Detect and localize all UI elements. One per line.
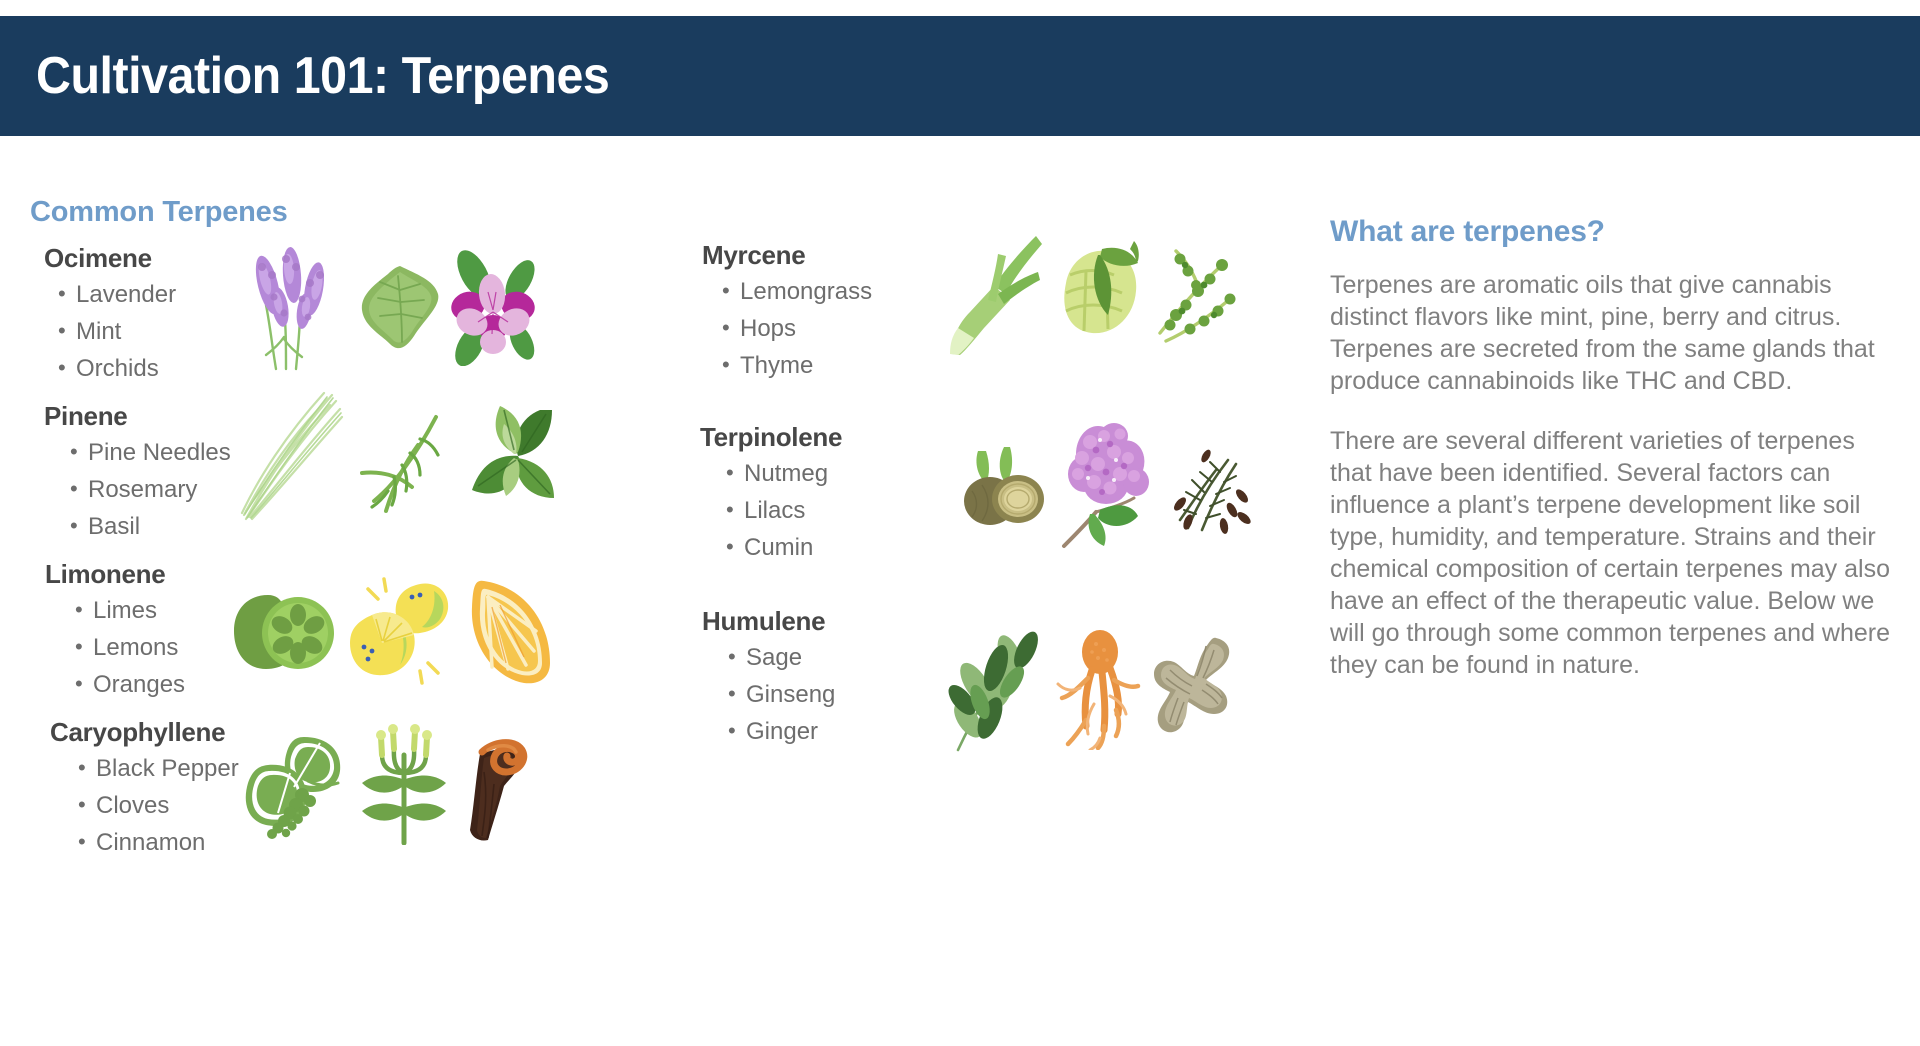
list-item: Pine Needles xyxy=(70,434,690,471)
terpene-group-limonene: Limonene Limes Lemons Oranges xyxy=(30,559,690,703)
list-item: Thyme xyxy=(722,347,1320,384)
list-item: Lilacs xyxy=(726,492,1320,529)
list-item: Hops xyxy=(722,310,1320,347)
terpene-group-myrcene: Myrcene Lemongrass Hops Thyme xyxy=(700,240,1320,384)
terpene-name: Caryophyllene xyxy=(50,717,690,748)
list-item: Nutmeg xyxy=(726,455,1320,492)
list-item: Cumin xyxy=(726,529,1320,566)
list-item: Oranges xyxy=(75,666,690,703)
body-paragraph: Terpenes are aromatic oils that give can… xyxy=(1330,269,1900,397)
terpene-source-list: Sage Ginseng Ginger xyxy=(700,639,1320,750)
middle-column: Myrcene Lemongrass Hops Thyme xyxy=(700,240,1320,764)
terpene-name: Humulene xyxy=(702,606,1320,637)
list-item: Lemongrass xyxy=(722,273,1320,310)
section-heading-what-are-terpenes: What are terpenes? xyxy=(1330,215,1900,249)
body-paragraph: There are several different varieties of… xyxy=(1330,425,1900,681)
list-item: Limes xyxy=(75,592,690,629)
page-title: Cultivation 101: Terpenes xyxy=(36,46,609,106)
list-item: Lavender xyxy=(58,276,690,313)
terpene-name: Terpinolene xyxy=(700,422,1320,453)
terpene-name: Ocimene xyxy=(44,243,690,274)
list-item: Sage xyxy=(728,639,1320,676)
list-item: Basil xyxy=(70,508,690,545)
slide-canvas: Cultivation 101: Terpenes Common Terpene… xyxy=(0,0,1920,1046)
terpene-source-list: Limes Lemons Oranges xyxy=(30,592,690,703)
terpene-group-pinene: Pinene Pine Needles Rosemary Basil xyxy=(30,401,690,545)
terpene-group-ocimene: Ocimene Lavender Mint Orchids xyxy=(30,243,690,387)
list-item: Rosemary xyxy=(70,471,690,508)
right-column: What are terpenes? Terpenes are aromatic… xyxy=(1330,215,1900,709)
list-item: Cloves xyxy=(78,787,690,824)
terpene-source-list: Black Pepper Cloves Cinnamon xyxy=(30,750,690,861)
list-item: Lemons xyxy=(75,629,690,666)
list-item: Cinnamon xyxy=(78,824,690,861)
terpene-source-list: Pine Needles Rosemary Basil xyxy=(30,434,690,545)
list-item: Ginger xyxy=(728,713,1320,750)
list-item: Black Pepper xyxy=(78,750,690,787)
terpene-name: Myrcene xyxy=(702,240,1320,271)
terpene-group-humulene: Humulene Sage Ginseng Ginger xyxy=(700,606,1320,750)
terpene-group-caryophyllene: Caryophyllene Black Pepper Cloves Cinnam… xyxy=(30,717,690,861)
left-column: Common Terpenes Ocimene Lavender Mint Or… xyxy=(30,196,690,875)
list-item: Ginseng xyxy=(728,676,1320,713)
terpene-source-list: Nutmeg Lilacs Cumin xyxy=(700,455,1320,566)
terpene-name: Pinene xyxy=(44,401,690,432)
terpene-group-terpinolene: Terpinolene Nutmeg Lilacs Cumin xyxy=(700,422,1320,566)
terpene-name: Limonene xyxy=(45,559,690,590)
header-bar: Cultivation 101: Terpenes xyxy=(0,16,1920,136)
terpene-source-list: Lavender Mint Orchids xyxy=(30,276,690,387)
section-heading-common-terpenes: Common Terpenes xyxy=(30,196,690,229)
list-item: Orchids xyxy=(58,350,690,387)
terpene-source-list: Lemongrass Hops Thyme xyxy=(700,273,1320,384)
list-item: Mint xyxy=(58,313,690,350)
